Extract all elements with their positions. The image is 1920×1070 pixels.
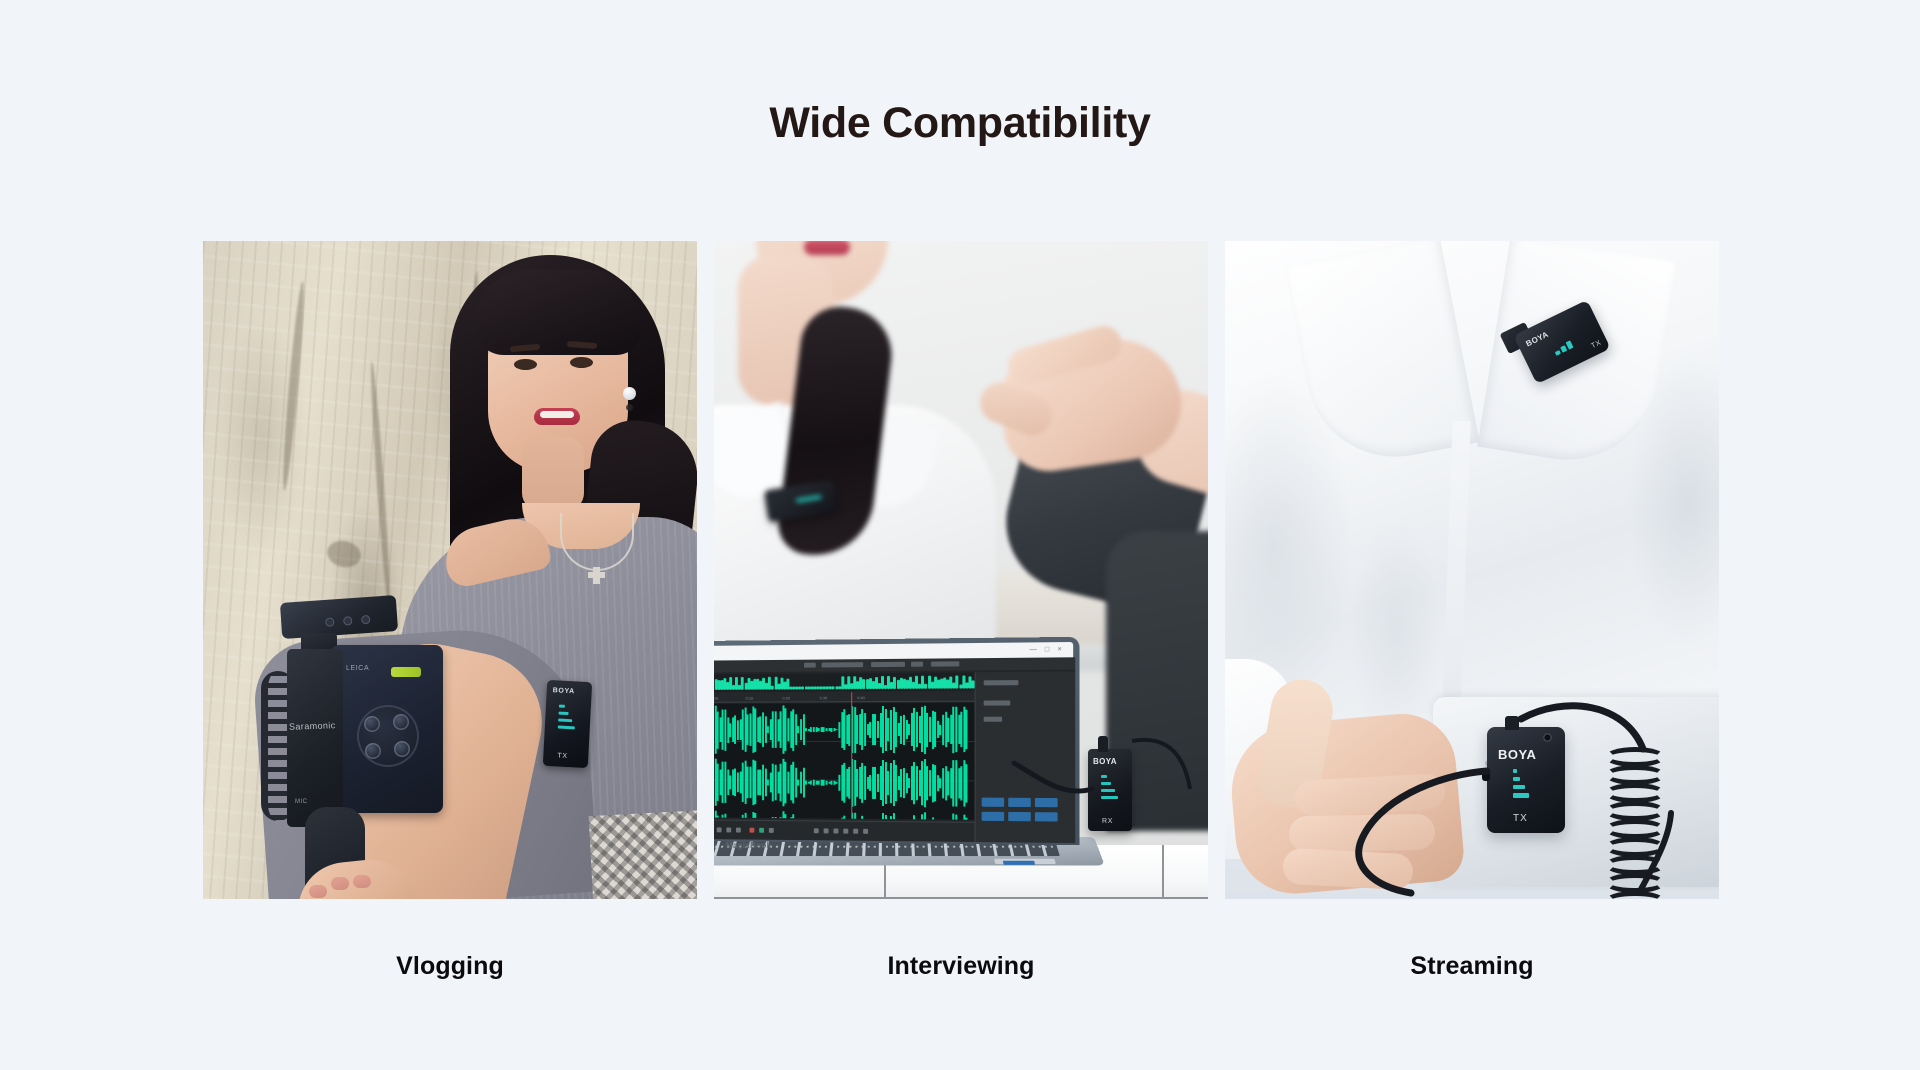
waveform-overview xyxy=(714,672,975,692)
hair-fringe xyxy=(474,269,642,355)
laptop-badge xyxy=(1003,861,1035,865)
coiled-cable xyxy=(1605,747,1671,899)
device-type-label: TX xyxy=(557,753,568,761)
earring xyxy=(623,387,636,400)
boya-brand-label: BOYA xyxy=(553,687,575,695)
rig-mic-label: MIC xyxy=(295,799,308,805)
vlogging-photo: LEICA Saramonic MIC BOYA xyxy=(203,241,697,899)
signal-bars-icon xyxy=(557,705,577,744)
tile-seam xyxy=(750,897,752,899)
boya-brand-label: BOYA xyxy=(1524,330,1550,349)
boya-tx-transmitter: BOYA TX xyxy=(543,680,592,768)
device-type-label: TX xyxy=(1513,813,1528,824)
rig-brand-label: Saramonic xyxy=(289,720,336,732)
phone-accent-strip xyxy=(391,667,421,677)
mic-control-dial xyxy=(343,616,353,626)
panel-streaming[interactable]: BOYA TX xyxy=(1225,241,1719,899)
panel-vlogging[interactable]: LEICA Saramonic MIC BOYA xyxy=(203,241,697,899)
tile-seam xyxy=(1026,897,1028,899)
panel-interviewing[interactable]: — □ × 0:00 xyxy=(714,241,1208,899)
finger xyxy=(1289,814,1436,853)
laptop: — □ × 0:00 xyxy=(714,639,1130,889)
neck xyxy=(522,437,584,511)
window-controls-icon[interactable]: — □ × xyxy=(1030,646,1065,653)
eye xyxy=(514,359,537,370)
image-gallery: LEICA Saramonic MIC BOYA xyxy=(203,241,1719,899)
caption-vlogging: Vlogging xyxy=(203,952,697,992)
signal-bars-icon xyxy=(1513,769,1533,805)
boya-rx-receiver: BOYA RX xyxy=(1088,749,1132,831)
interviewee-subject xyxy=(714,241,986,655)
signal-bars-icon xyxy=(1101,775,1119,809)
laptop-brand-label: MagicBook xyxy=(726,841,771,850)
timeline-ruler: 0:00 0:10 0:20 0:30 0:40 xyxy=(714,692,975,703)
playhead[interactable] xyxy=(851,692,852,819)
finger xyxy=(1282,848,1414,891)
fingernail xyxy=(331,877,349,890)
fingernail xyxy=(353,875,371,888)
editor-menubar xyxy=(714,657,1075,672)
device-type-label: RX xyxy=(1102,818,1113,825)
fingernail xyxy=(309,885,327,898)
cable-plug xyxy=(1098,736,1108,752)
audio-waveform xyxy=(714,703,975,820)
checkered-skirt xyxy=(589,810,697,899)
mic-control-dial xyxy=(325,617,335,627)
caption-interviewing: Interviewing xyxy=(714,952,1208,992)
eye xyxy=(570,357,593,368)
mic-port xyxy=(1543,733,1552,742)
editor-toolbar[interactable] xyxy=(714,819,975,842)
teeth xyxy=(540,411,574,418)
laptop-lid: — □ × 0:00 xyxy=(714,637,1079,845)
camera-lens xyxy=(393,714,409,730)
vlogger-subject xyxy=(410,241,697,899)
page-root: Wide Compatibility xyxy=(0,0,1920,1070)
tile-seam xyxy=(714,897,1208,899)
caption-row: Vlogging Interviewing Streaming xyxy=(203,952,1719,992)
boya-brand-label: BOYA xyxy=(1498,747,1536,762)
camera-module xyxy=(357,705,419,767)
selfie-rig: LEICA Saramonic MIC xyxy=(253,593,453,899)
shotgun-microphone xyxy=(280,595,398,639)
necklace-pendant xyxy=(593,567,600,584)
boya-brand-label: BOYA xyxy=(1093,757,1117,766)
signal-bars-icon xyxy=(1551,329,1585,351)
streaming-photo: BOYA TX xyxy=(1225,241,1719,899)
interviewing-photo: — □ × 0:00 xyxy=(714,241,1208,899)
phone-brand-label: LEICA xyxy=(346,665,369,672)
laptop-screen: 0:00 0:10 0:20 0:30 0:40 xyxy=(714,657,1075,843)
camera-lens xyxy=(394,741,410,757)
device-type-label: TX xyxy=(1590,339,1602,350)
tile-seam xyxy=(1162,845,1164,899)
audio-jack xyxy=(1482,771,1490,781)
page-title: Wide Compatibility xyxy=(0,101,1920,146)
camera-lens xyxy=(364,716,380,732)
caption-streaming: Streaming xyxy=(1225,952,1719,992)
cable-plug xyxy=(1505,716,1519,730)
mic-control-dial xyxy=(361,615,371,625)
gesturing-hand xyxy=(967,297,1208,527)
lips xyxy=(804,241,850,255)
hand-holding-phone xyxy=(1225,673,1509,899)
camera-lens xyxy=(365,743,381,759)
editor-side-panel[interactable] xyxy=(975,672,1076,844)
boya-tx-unit: BOYA TX xyxy=(1487,727,1565,833)
